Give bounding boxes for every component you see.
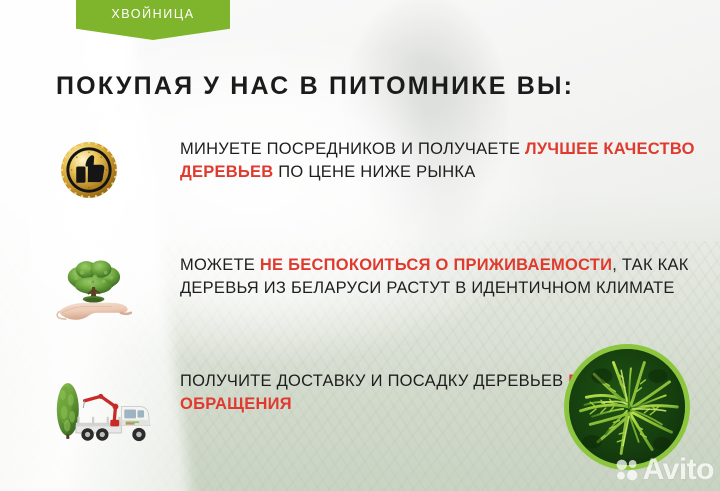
benefit-text-part: ПО ЦЕНЕ НИЖЕ РЫНКА [273,163,475,181]
thuja-foliage-illustration [569,349,685,465]
benefit-text-part: МИНУЕТЕ ПОСРЕДНИКОВ И ПОЛУЧАЕТЕ [180,140,525,158]
benefit-icon-cell [48,136,180,222]
benefit-text-part: МОЖЕТЕ [180,256,260,274]
benefit-icon-cell [48,252,180,338]
benefit-row: МИНУЕТЕ ПОСРЕДНИКОВ И ПОЛУЧАЕТЕ ЛУЧШЕЕ К… [48,136,698,222]
promo-poster: ХВОЙНИЦА ПОКУПАЯ У НАС В ПИТОМНИКЕ ВЫ: [0,0,720,491]
benefit-icon-cell [48,368,180,454]
brand-banner-label: ХВОЙНИЦА [111,7,194,21]
gold-thumbs-up-seal-icon [60,141,118,199]
thuja-foliage-photo [564,344,690,470]
crane-truck-delivery-icon [48,374,158,448]
benefit-text: МИНУЕТЕ ПОСРЕДНИКОВ И ПОЛУЧАЕТЕ ЛУЧШЕЕ К… [180,136,698,184]
benefit-text-part: ПОЛУЧИТЕ ДОСТАВКУ И ПОСАДКУ ДЕРЕВЬЕВ [180,372,568,390]
benefit-text: МОЖЕТЕ НЕ БЕСПОКОИТЬСЯ О ПРИЖИВАЕМОСТИ, … [180,252,698,300]
page-title: ПОКУПАЯ У НАС В ПИТОМНИКЕ ВЫ: [56,72,574,101]
hand-holding-tree-icon [52,252,138,332]
benefit-text-highlight: НЕ БЕСПОКОИТЬСЯ О ПРИЖИВАЕМОСТИ [260,256,612,274]
benefit-row: МОЖЕТЕ НЕ БЕСПОКОИТЬСЯ О ПРИЖИВАЕМОСТИ, … [48,252,698,338]
